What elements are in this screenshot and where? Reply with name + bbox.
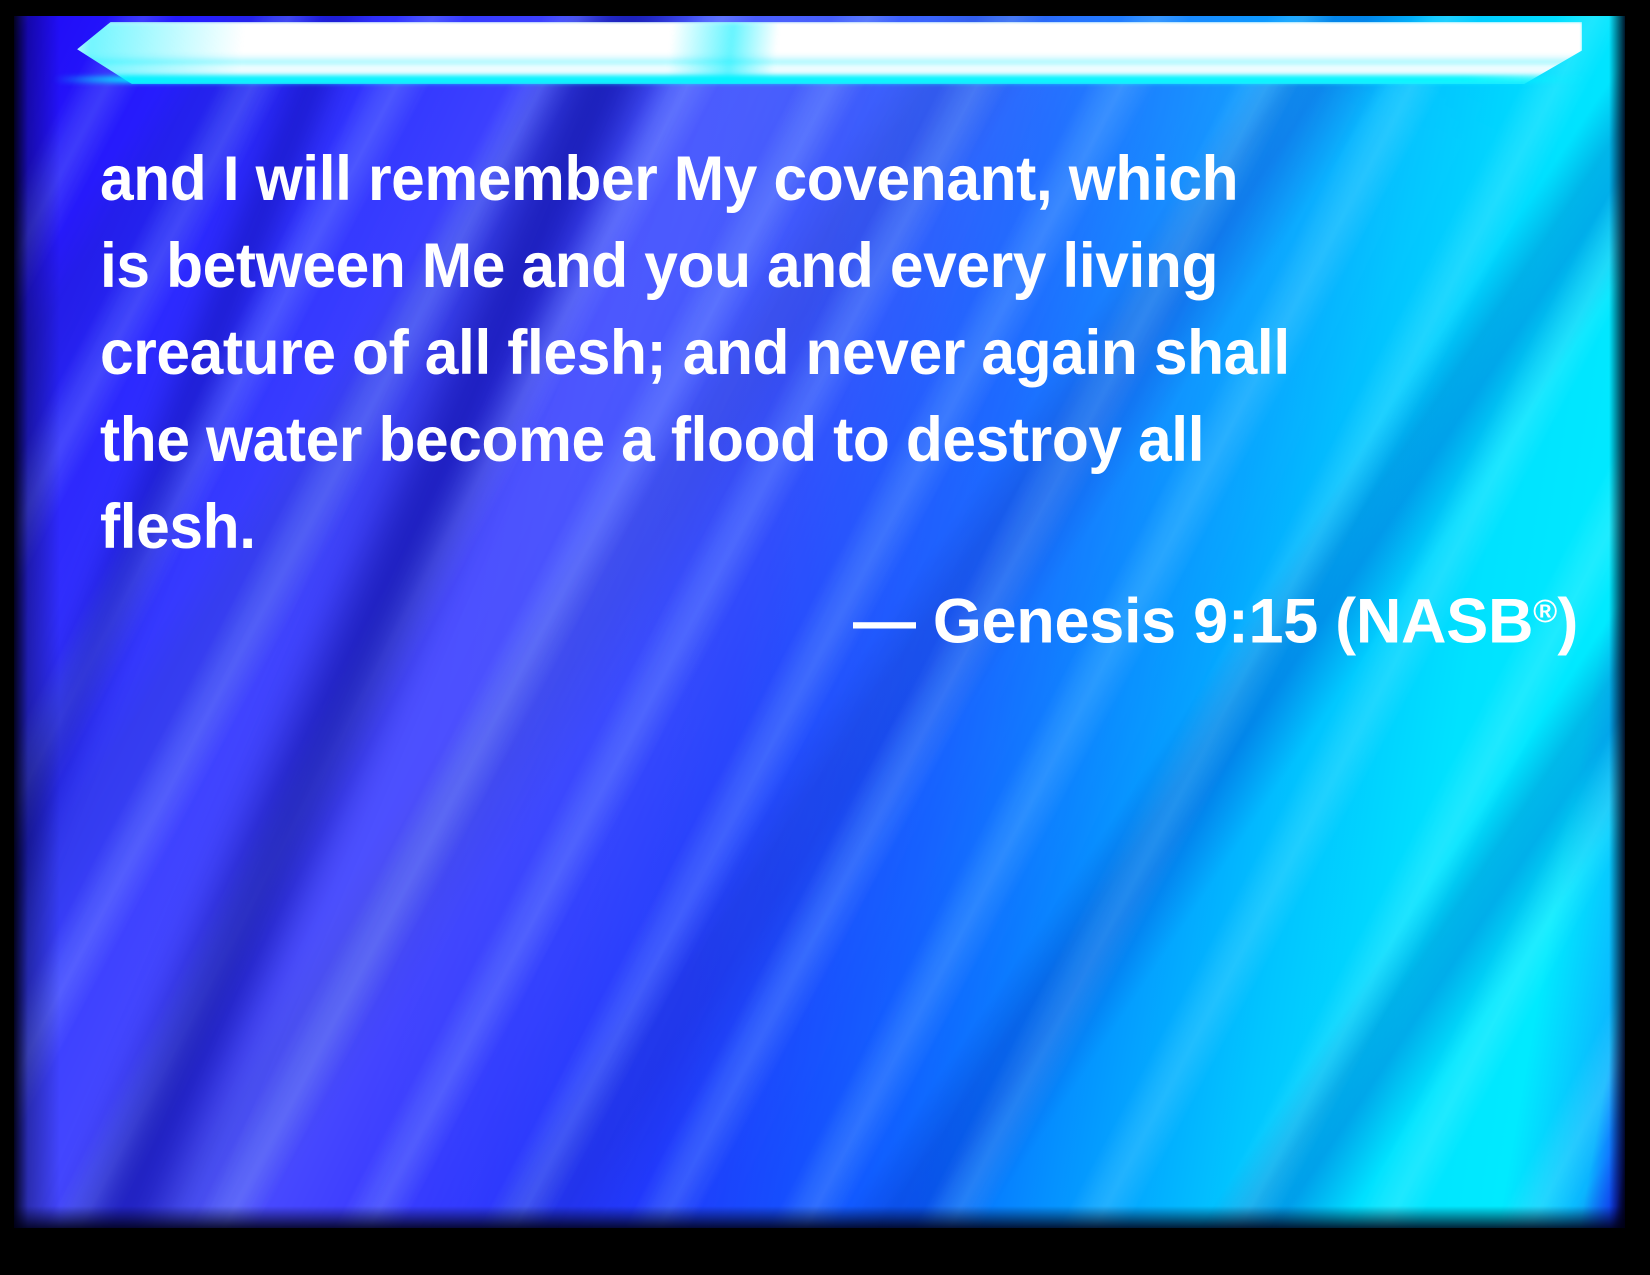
banner-streaks (62, 22, 1582, 84)
verse-text-block: and I will remember My covenant, which i… (100, 136, 1520, 571)
bible-verse-slide: and I will remember My covenant, which i… (0, 0, 1650, 1275)
verse-line-5: flesh. (100, 484, 1463, 571)
verse-line-3: creature of all flesh; and never again s… (100, 310, 1463, 397)
verse-line-4: the water become a flood to destroy all (100, 397, 1463, 484)
top-banner (14, 16, 1625, 106)
verse-attribution: — Genesis 9:15 (NASB®) (100, 571, 1578, 661)
verse-line-1: and I will remember My covenant, which (100, 136, 1463, 223)
attribution-suffix: ) (1557, 586, 1578, 656)
registered-trademark-icon: ® (1533, 592, 1557, 629)
banner-glow-line (54, 76, 1589, 83)
verse-line-2: is between Me and you and every living (100, 223, 1463, 310)
attribution-prefix: — Genesis 9:15 (NASB (853, 586, 1533, 656)
artwork-panel: and I will remember My covenant, which i… (14, 16, 1625, 1228)
